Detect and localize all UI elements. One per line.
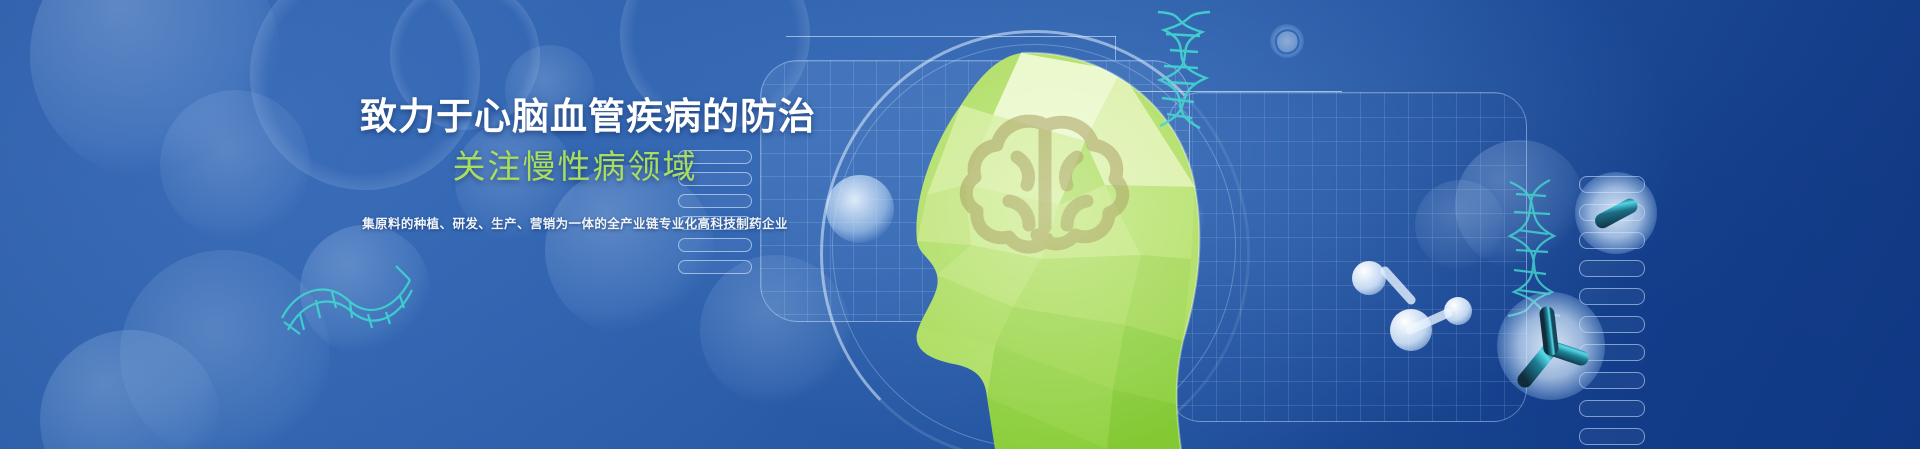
cell-blob [1270, 24, 1304, 58]
bokeh-bubble [160, 90, 310, 240]
bokeh-bubble [40, 330, 220, 449]
hud-indicator-bar [678, 260, 752, 274]
hero-banner: 致力于心脑血管疾病的防治 关注慢性病领域 集原料的种植、研发、生产、营销为一体的… [0, 0, 1920, 449]
bokeh-bubble [30, 0, 280, 180]
cell-bacteria-y [1497, 292, 1605, 400]
hud-indicator-bar [1579, 428, 1645, 445]
molecule-structure [1352, 255, 1482, 385]
page-title: 致力于心脑血管疾病的防治 [360, 96, 790, 139]
molecule-atom [1390, 309, 1432, 351]
dna-helix-icon [1140, 10, 1230, 130]
microbe-icon [1270, 24, 1304, 58]
bacteria-y-icon [1497, 292, 1605, 400]
page-subtitle-green: 关注慢性病领域 [360, 147, 790, 187]
molecule-atom [1444, 297, 1472, 325]
molecule-atom [1352, 261, 1386, 295]
headline-highlight: 心脑血管疾病 [474, 96, 702, 137]
headline-suffix: 的防治 [702, 96, 816, 137]
dna-helix-icon [278, 256, 414, 338]
bacteria-rod-icon [1575, 172, 1657, 254]
cell-bacteria-rod [1575, 172, 1657, 254]
banner-copy: 致力于心脑血管疾病的防治 关注慢性病领域 集原料的种植、研发、生产、营销为一体的… [360, 96, 790, 232]
hud-indicator-bar [1579, 260, 1645, 277]
page-description: 集原料的种植、研发、生产、营销为一体的全产业链专业化高科技制药企业 [360, 213, 790, 232]
headline-prefix: 致力于 [360, 96, 474, 137]
hud-indicator-bar [1579, 400, 1645, 417]
hud-indicator-bar [678, 238, 752, 252]
